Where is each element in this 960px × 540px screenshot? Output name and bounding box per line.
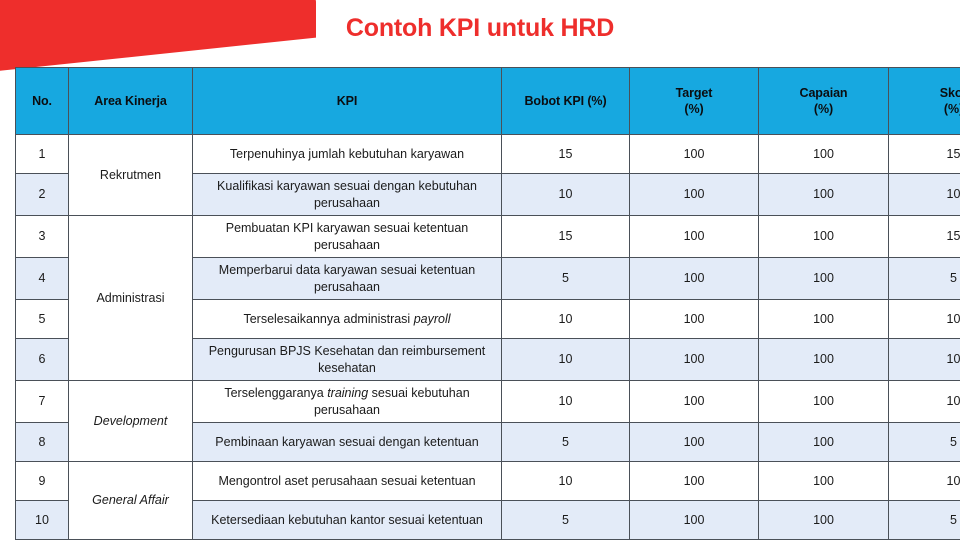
- cell-target: 100: [630, 501, 759, 540]
- cell-kpi: Memperbarui data karyawan sesuai ketentu…: [193, 258, 502, 300]
- cell-no: 6: [16, 339, 69, 381]
- table-row: 3AdministrasiPembuatan KPI karyawan sesu…: [16, 216, 960, 258]
- cell-no: 4: [16, 258, 69, 300]
- kpi-table: No. Area Kinerja KPI Bobot KPI (%) Targe…: [15, 67, 960, 540]
- slide-canvas: Contoh KPI untuk HRD No. Area Kinerja KP…: [0, 0, 960, 540]
- cell-skor: 15: [889, 135, 960, 174]
- cell-bobot: 15: [502, 216, 630, 258]
- cell-skor: 15: [889, 216, 960, 258]
- cell-area-kinerja: General Affair: [69, 462, 193, 540]
- header-row: No. Area Kinerja KPI Bobot KPI (%) Targe…: [16, 68, 960, 135]
- cell-capaian: 100: [759, 339, 889, 381]
- column-header-skor-line2: (%): [894, 101, 960, 118]
- cell-bobot: 5: [502, 501, 630, 540]
- cell-no: 1: [16, 135, 69, 174]
- cell-skor: 5: [889, 423, 960, 462]
- cell-skor: 5: [889, 258, 960, 300]
- cell-no: 5: [16, 300, 69, 339]
- cell-capaian: 100: [759, 258, 889, 300]
- cell-kpi: Pengurusan BPJS Kesehatan dan reimbursem…: [193, 339, 502, 381]
- column-header-target[interactable]: Target (%): [630, 68, 759, 135]
- cell-bobot: 5: [502, 423, 630, 462]
- cell-target: 100: [630, 258, 759, 300]
- column-header-capaian[interactable]: Capaian (%): [759, 68, 889, 135]
- cell-kpi-emphasis: training: [327, 386, 368, 400]
- cell-bobot: 10: [502, 462, 630, 501]
- cell-target: 100: [630, 462, 759, 501]
- column-header-capaian-line1: Capaian: [800, 86, 848, 100]
- cell-target: 100: [630, 381, 759, 423]
- cell-target: 100: [630, 174, 759, 216]
- cell-capaian: 100: [759, 423, 889, 462]
- column-header-capaian-line2: (%): [764, 101, 883, 118]
- cell-kpi: Pembuatan KPI karyawan sesuai ketentuan …: [193, 216, 502, 258]
- column-header-no[interactable]: No.: [16, 68, 69, 135]
- cell-no: 8: [16, 423, 69, 462]
- cell-skor: 10: [889, 339, 960, 381]
- cell-target: 100: [630, 135, 759, 174]
- column-header-kpi[interactable]: KPI: [193, 68, 502, 135]
- cell-kpi: Terselesaikannya administrasi payroll: [193, 300, 502, 339]
- cell-area-kinerja: Administrasi: [69, 216, 193, 381]
- cell-no: 9: [16, 462, 69, 501]
- cell-area-kinerja: Development: [69, 381, 193, 462]
- table-row: 7DevelopmentTerselenggaranya training se…: [16, 381, 960, 423]
- cell-capaian: 100: [759, 174, 889, 216]
- page-title: Contoh KPI untuk HRD: [0, 14, 960, 43]
- cell-skor: 10: [889, 381, 960, 423]
- cell-skor: 5: [889, 501, 960, 540]
- cell-no: 7: [16, 381, 69, 423]
- cell-bobot: 10: [502, 339, 630, 381]
- table-header: No. Area Kinerja KPI Bobot KPI (%) Targe…: [16, 68, 960, 135]
- cell-kpi-emphasis: payroll: [414, 312, 451, 326]
- table-row: 1RekrutmenTerpenuhinya jumlah kebutuhan …: [16, 135, 960, 174]
- column-header-skor-line1: Skor: [940, 86, 960, 100]
- cell-no: 10: [16, 501, 69, 540]
- column-header-target-line2: (%): [635, 101, 753, 118]
- column-header-bobot[interactable]: Bobot KPI (%): [502, 68, 630, 135]
- cell-target: 100: [630, 216, 759, 258]
- cell-skor: 10: [889, 174, 960, 216]
- cell-target: 100: [630, 339, 759, 381]
- column-header-area[interactable]: Area Kinerja: [69, 68, 193, 135]
- table-body: 1RekrutmenTerpenuhinya jumlah kebutuhan …: [16, 135, 960, 540]
- cell-bobot: 10: [502, 300, 630, 339]
- cell-kpi: Kualifikasi karyawan sesuai dengan kebut…: [193, 174, 502, 216]
- column-header-skor[interactable]: Skor (%): [889, 68, 960, 135]
- cell-capaian: 100: [759, 501, 889, 540]
- cell-bobot: 10: [502, 174, 630, 216]
- cell-kpi: Terselenggaranya training sesuai kebutuh…: [193, 381, 502, 423]
- cell-kpi: Terpenuhinya jumlah kebutuhan karyawan: [193, 135, 502, 174]
- cell-bobot: 5: [502, 258, 630, 300]
- cell-kpi: Pembinaan karyawan sesuai dengan ketentu…: [193, 423, 502, 462]
- cell-skor: 10: [889, 300, 960, 339]
- cell-capaian: 100: [759, 216, 889, 258]
- cell-skor: 10: [889, 462, 960, 501]
- cell-target: 100: [630, 423, 759, 462]
- cell-capaian: 100: [759, 135, 889, 174]
- cell-area-kinerja: Rekrutmen: [69, 135, 193, 216]
- cell-capaian: 100: [759, 300, 889, 339]
- cell-bobot: 15: [502, 135, 630, 174]
- cell-target: 100: [630, 300, 759, 339]
- cell-kpi: Mengontrol aset perusahaan sesuai ketent…: [193, 462, 502, 501]
- kpi-table-container: No. Area Kinerja KPI Bobot KPI (%) Targe…: [15, 67, 945, 540]
- cell-capaian: 100: [759, 462, 889, 501]
- cell-capaian: 100: [759, 381, 889, 423]
- column-header-target-line1: Target: [676, 86, 713, 100]
- cell-bobot: 10: [502, 381, 630, 423]
- table-row: 9General AffairMengontrol aset perusahaa…: [16, 462, 960, 501]
- cell-kpi: Ketersediaan kebutuhan kantor sesuai ket…: [193, 501, 502, 540]
- cell-no: 2: [16, 174, 69, 216]
- cell-no: 3: [16, 216, 69, 258]
